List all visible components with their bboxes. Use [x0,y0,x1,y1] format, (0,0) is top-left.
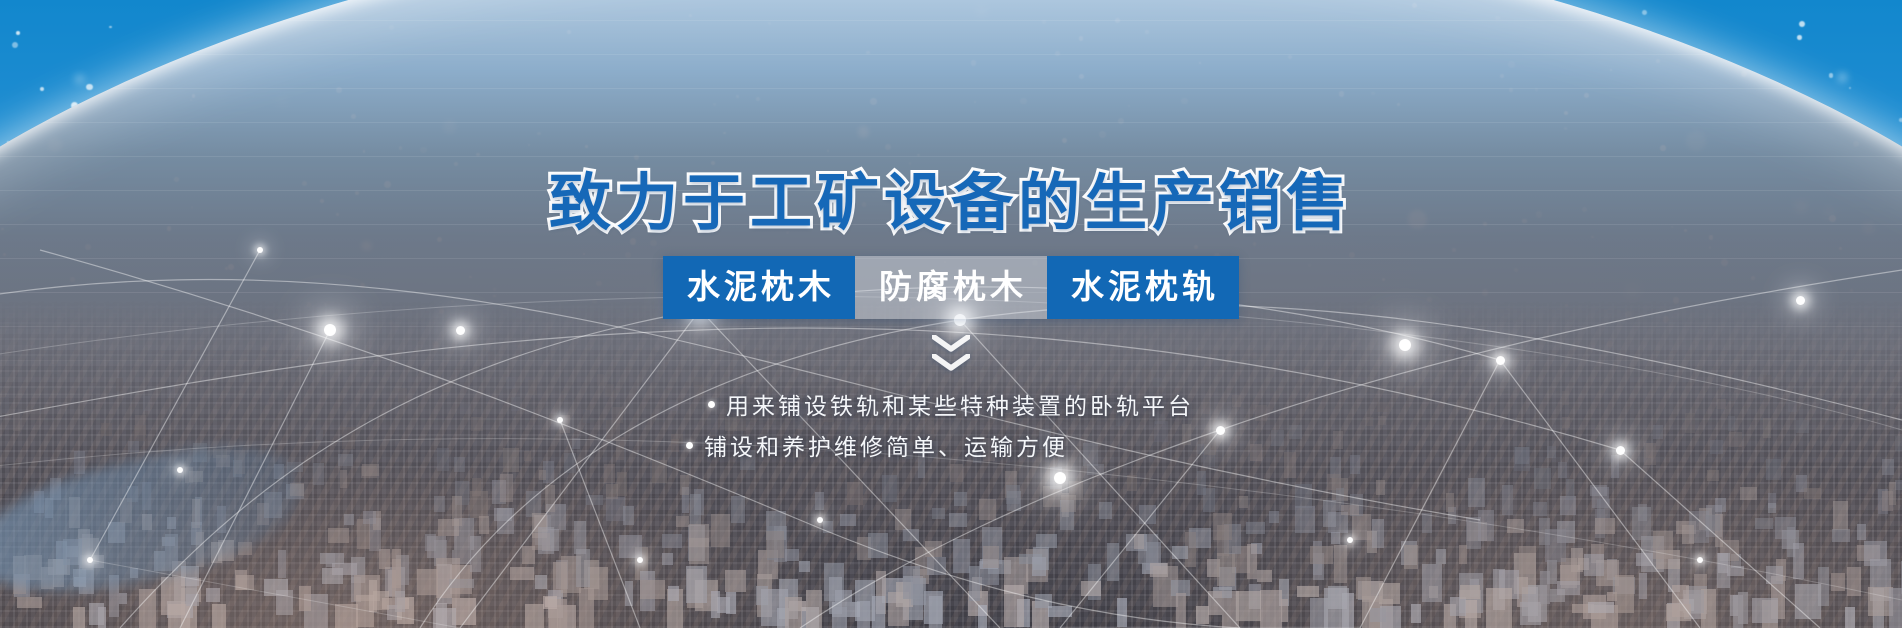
banner-content: 致力于工矿设备的生产销售 水泥枕木 防腐枕木 水泥枕轨 用来铺设铁轨和某些特种装… [0,0,1902,628]
list-item: 用来铺设铁轨和某些特种装置的卧轨平台 [708,387,1194,421]
double-chevron-down-icon [932,335,970,371]
hero-banner: 致力于工矿设备的生产销售 水泥枕木 防腐枕木 水泥枕轨 用来铺设铁轨和某些特种装… [0,0,1902,628]
bullet-dot-icon [708,401,715,408]
product-tag-group: 水泥枕木 防腐枕木 水泥枕轨 [663,256,1239,319]
feature-bullet-text: 用来铺设铁轨和某些特种装置的卧轨平台 [726,387,1194,421]
bullet-dot-icon [686,442,693,449]
product-tag-cement-sleeper[interactable]: 水泥枕木 [663,256,855,319]
product-tag-antiseptic-sleeper[interactable]: 防腐枕木 [855,256,1047,319]
list-item: 铺设和养护维修简单、运输方便 [686,428,1068,462]
product-tag-cement-rail[interactable]: 水泥枕轨 [1047,256,1239,319]
page-title: 致力于工矿设备的生产销售 [549,172,1353,234]
feature-bullet-list: 用来铺设铁轨和某些特种装置的卧轨平台 铺设和养护维修简单、运输方便 [708,387,1194,462]
feature-bullet-text: 铺设和养护维修简单、运输方便 [704,428,1068,462]
